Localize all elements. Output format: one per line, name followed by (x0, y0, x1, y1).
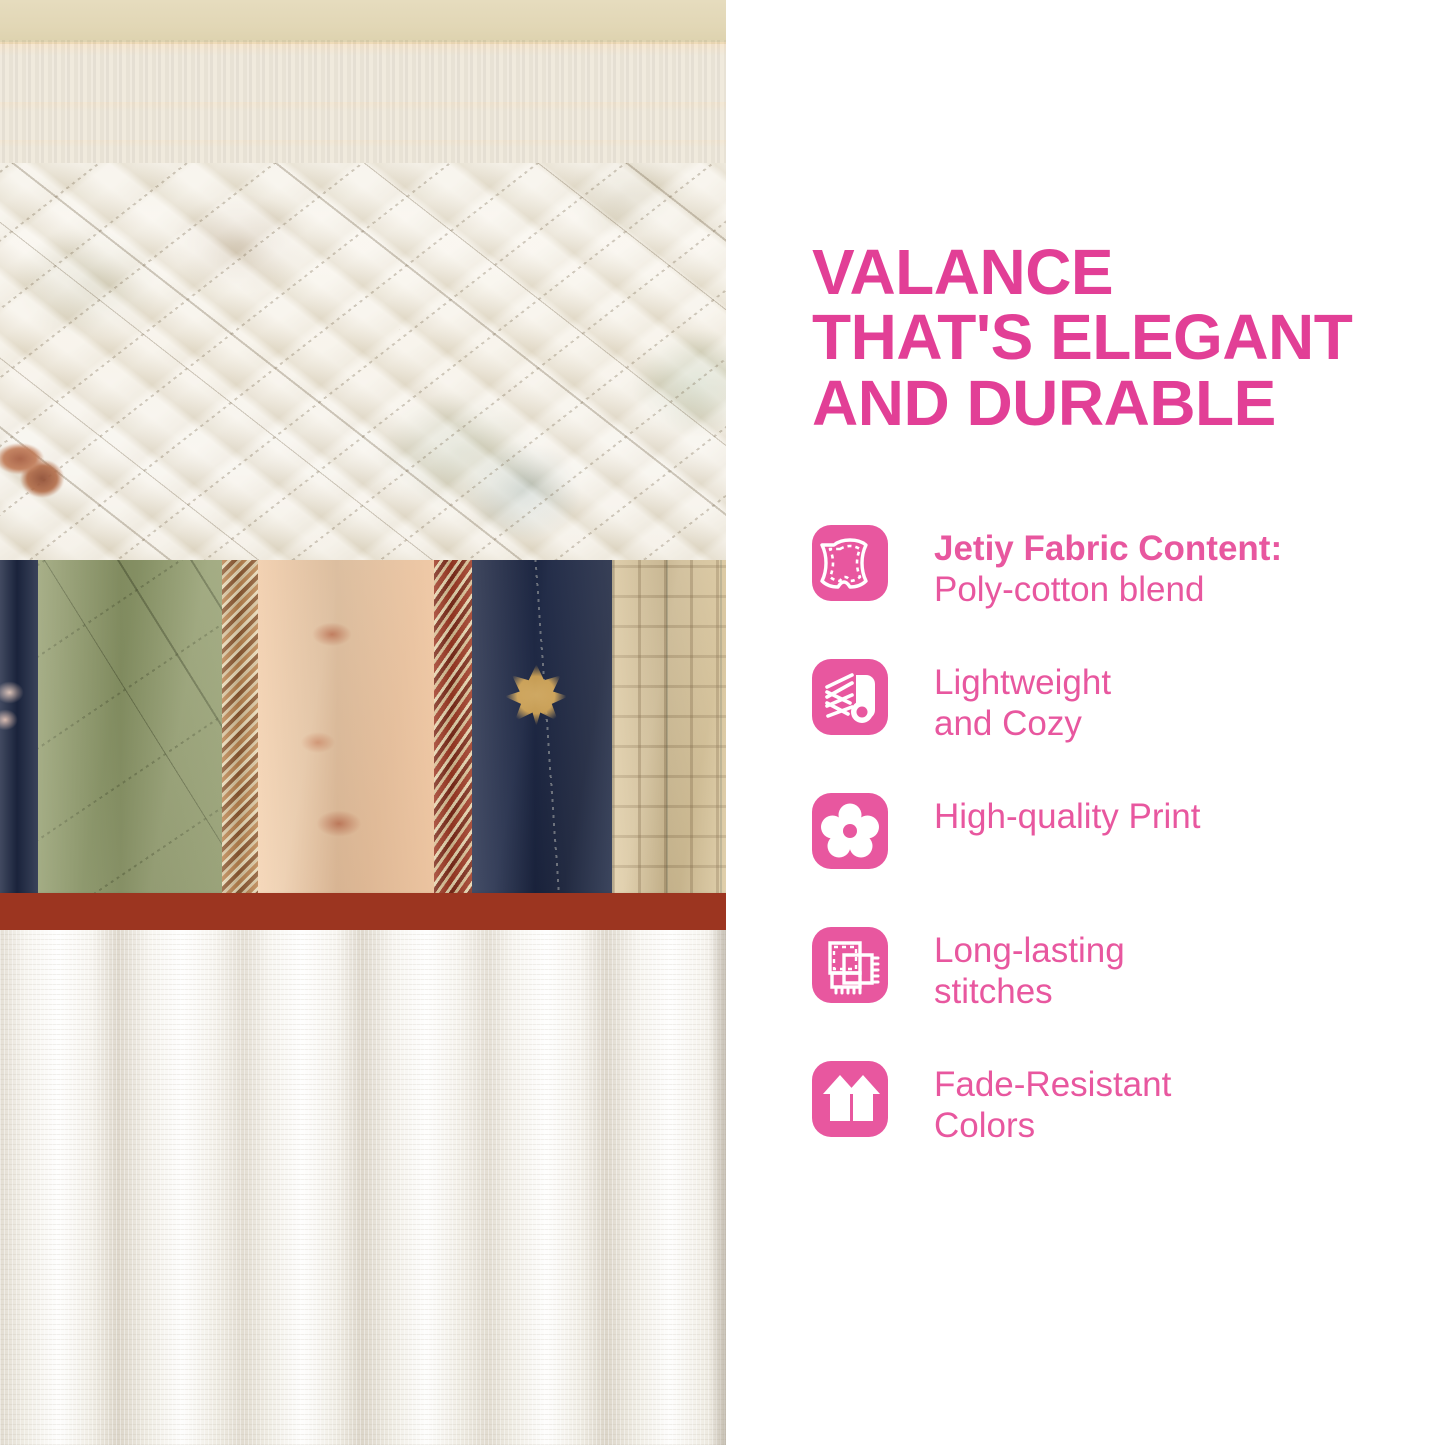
patch-tan-plaid (612, 560, 726, 898)
white-linen-curtain (0, 930, 726, 1445)
page-title: VALANCE THAT'S ELEGANT AND DURABLE (812, 240, 1412, 436)
stacked-fabric-icon (812, 927, 888, 1003)
cream-quilted-panel (0, 163, 726, 563)
diamond-stitch-grid (0, 163, 726, 563)
product-photo (0, 0, 726, 1445)
list-item: Lightweightand Cozy (812, 659, 1422, 759)
feature-text: Lightweightand Cozy (934, 659, 1111, 744)
feature-text: Long-lastingstitches (934, 927, 1125, 1012)
patch-sashing-light (222, 560, 258, 898)
feature-bold-label: Jetiy Fabric Content: (934, 529, 1282, 568)
wooden-cornice (0, 40, 726, 165)
feature-text: High-quality Print (934, 793, 1201, 838)
rust-floral-binding (0, 893, 726, 933)
butterfly-motif (0, 435, 80, 501)
feature-value: Long-lastingstitches (934, 931, 1125, 1011)
linen-weave-texture (0, 930, 726, 1445)
curtain-right-edge (710, 930, 726, 1445)
list-item: Jetiy Fabric Content: Poly-cotton blend (812, 525, 1422, 625)
patch-sage-green (38, 560, 222, 898)
feature-list: Jetiy Fabric Content: Poly-cotton blend (812, 525, 1422, 1195)
fabric-roll-icon (812, 659, 888, 735)
infographic-page: VALANCE THAT'S ELEGANT AND DURABLE Jetiy… (0, 0, 1445, 1445)
feature-text: Jetiy Fabric Content: Poly-cotton blend (934, 525, 1282, 610)
list-item: Fade-ResistantColors (812, 1061, 1422, 1161)
feature-value: Poly-cotton blend (934, 570, 1204, 609)
patch-navy-floral (0, 560, 38, 898)
patch-navy-maple-leaf (472, 560, 612, 898)
flower-icon (812, 793, 888, 869)
list-item: Long-lastingstitches (812, 927, 1422, 1027)
headline-line-2: THAT'S ELEGANT (812, 305, 1412, 370)
content-panel: VALANCE THAT'S ELEGANT AND DURABLE Jetiy… (726, 0, 1445, 1445)
fabric-swatch-icon (812, 525, 888, 601)
patch-peach-floral (258, 560, 434, 898)
headline-line-3: AND DURABLE (812, 371, 1412, 436)
feature-value: Lightweightand Cozy (934, 663, 1111, 743)
patch-sashing-rust (434, 560, 472, 898)
list-item: High-quality Print (812, 793, 1422, 893)
double-up-arrow-icon (812, 1061, 888, 1137)
feature-value: High-quality Print (934, 797, 1201, 836)
patchwork-strip (0, 560, 726, 898)
feature-text: Fade-ResistantColors (934, 1061, 1171, 1146)
feature-value: Fade-ResistantColors (934, 1065, 1171, 1145)
headline-line-1: VALANCE (812, 240, 1412, 305)
wall-background (0, 0, 726, 44)
